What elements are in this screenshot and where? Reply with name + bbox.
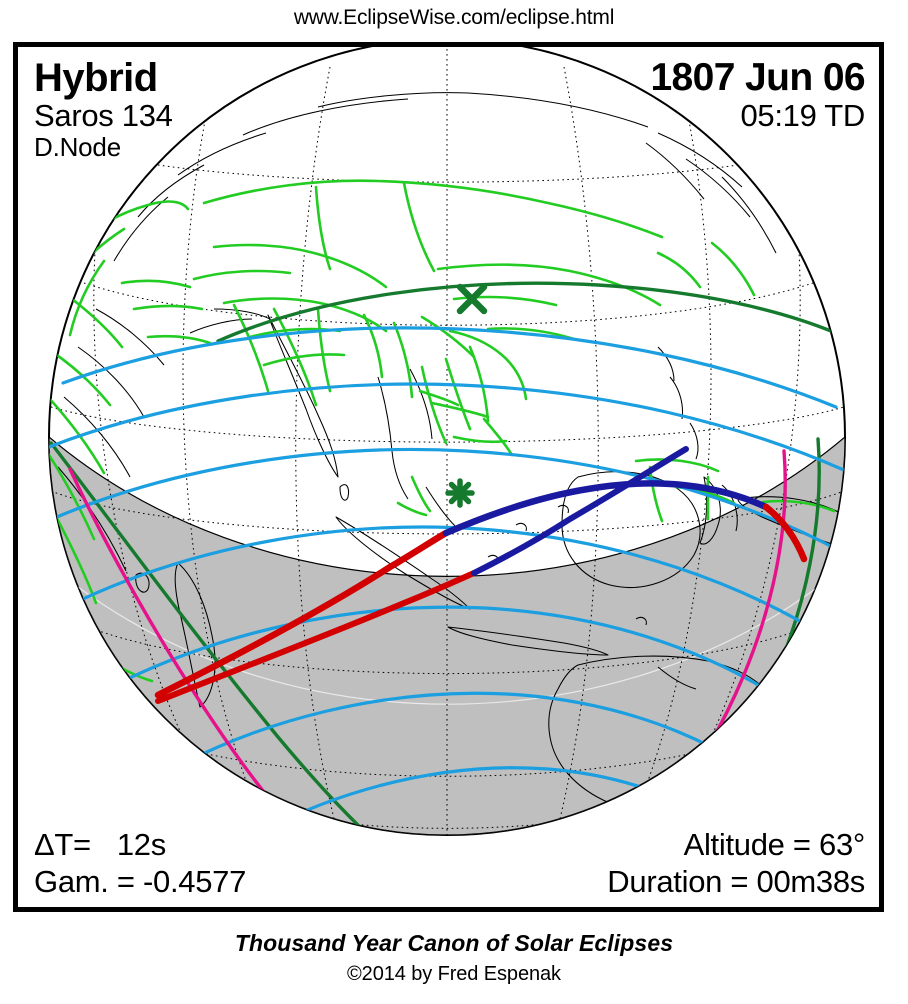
eclipse-type-label: Hybrid bbox=[34, 57, 173, 99]
eclipse-stats-bottom-right: Altitude = 63° Duration = 00m38s bbox=[607, 829, 865, 899]
eclipse-datetime-top-right: 1807 Jun 06 05:19 TD bbox=[650, 57, 865, 133]
publication-title: Thousand Year Canon of Solar Eclipses bbox=[0, 930, 908, 957]
delta-t-label: ΔT= bbox=[34, 827, 91, 862]
eclipse-time-label: 05:19 TD bbox=[650, 100, 865, 133]
saros-label: Saros 134 bbox=[34, 100, 173, 133]
copyright-credit: ©2014 by Fred Espenak bbox=[0, 963, 908, 986]
eclipse-info-top-left: Hybrid Saros 134 D.Node bbox=[34, 57, 173, 162]
delta-t-value: 12s bbox=[117, 827, 166, 862]
eclipse-date-label: 1807 Jun 06 bbox=[650, 57, 865, 98]
site-url: www.EclipseWise.com/eclipse.html bbox=[0, 6, 908, 30]
greatest-eclipse-asterisk bbox=[448, 481, 472, 505]
altitude-label: Altitude = 63° bbox=[607, 829, 865, 862]
duration-label: Duration = 00m38s bbox=[607, 866, 865, 899]
eclipse-map-panel: Hybrid Saros 134 D.Node 1807 Jun 06 05:1… bbox=[13, 42, 884, 912]
globe-map-graphic bbox=[18, 47, 879, 907]
gamma-label: Gam. = -0.4577 bbox=[34, 866, 246, 899]
node-label: D.Node bbox=[34, 134, 173, 162]
delta-t-row: ΔT=12s bbox=[34, 829, 246, 862]
eclipse-stats-bottom-left: ΔT=12s Gam. = -0.4577 bbox=[34, 829, 246, 899]
